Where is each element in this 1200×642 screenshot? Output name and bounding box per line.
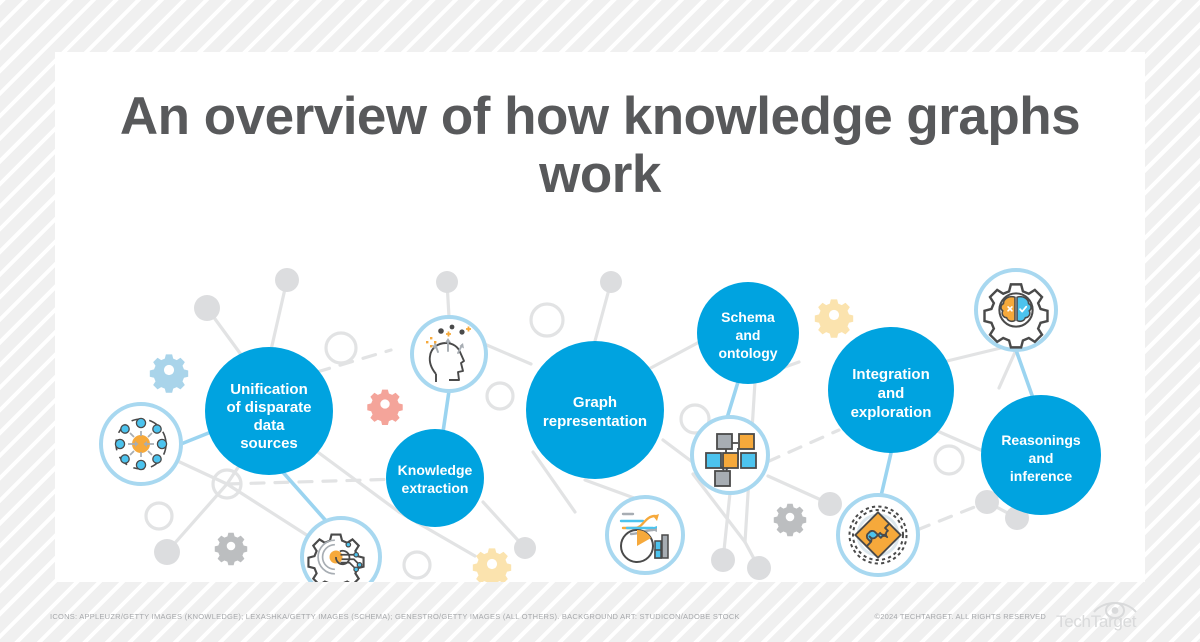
bubble-unification-line-2: of disparate bbox=[226, 399, 311, 416]
bubble-unification[interactable]: Unification of disparate data sources bbox=[205, 347, 333, 475]
image-credits: ICONS: APPLEUZR/GETTY IMAGES (KNOWLEDGE)… bbox=[50, 612, 740, 621]
network-dot bbox=[275, 268, 299, 292]
icon-node-gear-circuit bbox=[302, 518, 380, 582]
infographic-page: An overview of how knowledge graphs work bbox=[0, 0, 1200, 642]
network-dot bbox=[514, 537, 536, 559]
highlight-line bbox=[881, 453, 891, 496]
network-ring bbox=[404, 552, 430, 578]
knowledge-graph-diagram: Unification of disparate data sources Kn… bbox=[55, 212, 1145, 582]
bubble-reasonings-line-2: and bbox=[1029, 450, 1054, 466]
techtarget-wordmark: TechTarget bbox=[1056, 612, 1136, 632]
network-dot bbox=[154, 539, 180, 565]
network-dot bbox=[436, 271, 458, 293]
decor-gear-icon-salmon bbox=[367, 390, 402, 425]
network-dot bbox=[194, 295, 220, 321]
bubble-integration-line-3: exploration bbox=[851, 404, 932, 421]
bubble-knowledge-extraction[interactable]: Knowledge extraction bbox=[386, 429, 484, 527]
bubble-integration-line-2: and bbox=[878, 385, 905, 402]
bubble-knowledge-extraction-line-1: Knowledge bbox=[398, 462, 473, 478]
highlight-line bbox=[443, 391, 449, 432]
connector-line bbox=[999, 350, 1016, 388]
icon-node-analytics-chart bbox=[607, 497, 683, 573]
decor-gear-icon-yellow-top bbox=[815, 299, 853, 337]
decor-gear-icon-yellow-low bbox=[473, 548, 511, 582]
network-dot bbox=[818, 492, 842, 516]
gear-puzzle-icon bbox=[850, 507, 907, 564]
bubble-integration-line-1: Integration bbox=[852, 366, 930, 383]
decor-gear-icon-gray-mid bbox=[774, 504, 806, 536]
techtarget-logo: TechTarget bbox=[1056, 598, 1174, 632]
icon-node-gear-puzzle bbox=[838, 495, 918, 575]
icon-node-schema-graph bbox=[692, 417, 768, 493]
bubble-integration-and-exploration[interactable]: Integration and exploration bbox=[828, 327, 954, 453]
bubble-knowledge-extraction-line-2: extraction bbox=[402, 480, 469, 496]
icon-node-mind-extraction bbox=[412, 317, 486, 391]
network-dot bbox=[600, 271, 622, 293]
highlight-line bbox=[181, 432, 211, 444]
bubble-reasonings-and-inference[interactable]: Reasonings and inference bbox=[981, 395, 1101, 515]
bubble-schema-line-1: Schema bbox=[721, 309, 775, 325]
network-ring bbox=[935, 446, 963, 474]
highlight-line bbox=[281, 470, 327, 522]
page-title: An overview of how knowledge graphs work bbox=[55, 88, 1145, 205]
hub-network-icon bbox=[115, 418, 166, 469]
bubble-graph-representation-line-1: Graph bbox=[573, 394, 617, 411]
network-ring bbox=[146, 503, 172, 529]
network-dot bbox=[711, 548, 735, 572]
highlight-line bbox=[727, 382, 738, 418]
bubble-unification-line-1: Unification bbox=[230, 381, 308, 398]
bubble-reasonings-line-1: Reasonings bbox=[1001, 432, 1081, 448]
icon-node-gear-brain bbox=[976, 270, 1056, 350]
bubble-schema-line-3: ontology bbox=[718, 345, 777, 361]
highlight-line bbox=[1016, 350, 1033, 398]
decor-gear-icon-gray bbox=[215, 533, 247, 565]
bubble-schema-line-2: and bbox=[736, 327, 761, 343]
network-ring bbox=[326, 333, 356, 363]
bubble-graph-representation-line-2: representation bbox=[543, 413, 647, 430]
connector-line bbox=[767, 430, 839, 462]
copyright-notice: ©2024 TECHTARGET. ALL RIGHTS RESERVED bbox=[875, 612, 1046, 621]
network-ring bbox=[531, 304, 563, 336]
network-dot bbox=[747, 556, 771, 580]
network-ring bbox=[487, 383, 513, 409]
bubble-schema-and-ontology[interactable]: Schema and ontology bbox=[697, 282, 799, 384]
bubble-reasonings-line-3: inference bbox=[1010, 468, 1072, 484]
icon-node-hub-network bbox=[101, 404, 181, 484]
decor-gear-icon-blue bbox=[150, 354, 188, 392]
connector-line bbox=[647, 340, 703, 370]
bubble-graph-representation[interactable]: Graph representation bbox=[526, 341, 664, 479]
content-card: An overview of how knowledge graphs work bbox=[55, 52, 1145, 582]
bubble-unification-line-3: data bbox=[254, 417, 286, 434]
bubble-unification-line-4: sources bbox=[240, 435, 298, 452]
